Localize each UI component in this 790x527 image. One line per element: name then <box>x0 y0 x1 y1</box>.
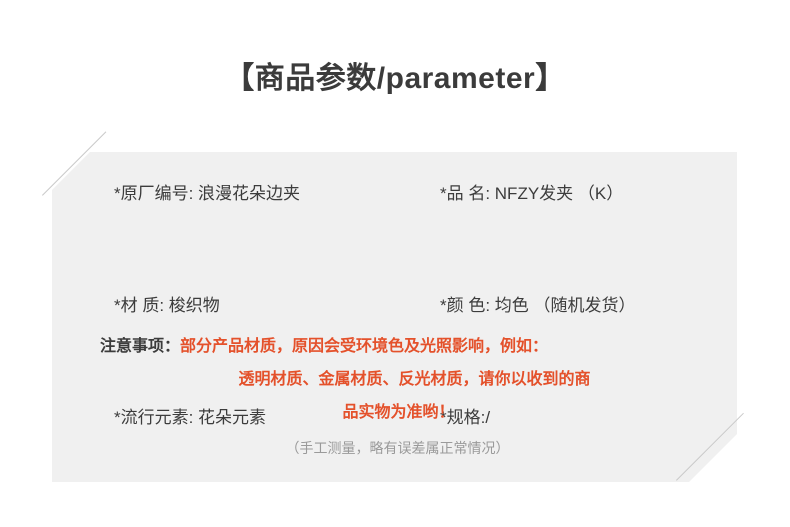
notice-label: 注意事项： <box>100 338 180 355</box>
notice-block: 注意事项：部分产品材质，原因会受环境色及光照影响，例如： 透明材质、金属材质、反… <box>52 330 737 459</box>
spec-cell-material: *材 质: 梭织物 <box>114 278 220 334</box>
notice-text-1: 部分产品材质，原因会受环境色及光照影响，例如： <box>180 338 548 355</box>
spec-table: *原厂编号: 浪漫花朵边夹 *品 名: NFZY发夹 （K） *材 质: 梭织物… <box>52 152 737 320</box>
spec-cell-factory-number: *原厂编号: 浪漫花朵边夹 <box>114 166 300 222</box>
product-parameter-page: 【商品参数/parameter】 *原厂编号: 浪漫花朵边夹 *品 名: NFZ… <box>0 0 790 527</box>
notice-text-3: 品实物为准哟！ <box>52 396 737 429</box>
notice-line-1: 注意事项：部分产品材质，原因会受环境色及光照影响，例如： <box>52 330 737 363</box>
spec-row: *原厂编号: 浪漫花朵边夹 *品 名: NFZY发夹 （K） <box>52 166 737 222</box>
spec-row: *材 质: 梭织物 *颜 色: 均色 （随机发货） <box>52 278 737 334</box>
spec-cell-product-name: *品 名: NFZY发夹 （K） <box>440 166 623 222</box>
spec-cell-color: *颜 色: 均色 （随机发货） <box>440 278 636 334</box>
page-title: 【商品参数/parameter】 <box>0 58 790 100</box>
notice-text-2: 透明材质、金属材质、反光材质，请你以收到的商 <box>52 363 737 396</box>
measurement-footnote: （手工测量，略有误差属正常情况） <box>52 437 737 459</box>
